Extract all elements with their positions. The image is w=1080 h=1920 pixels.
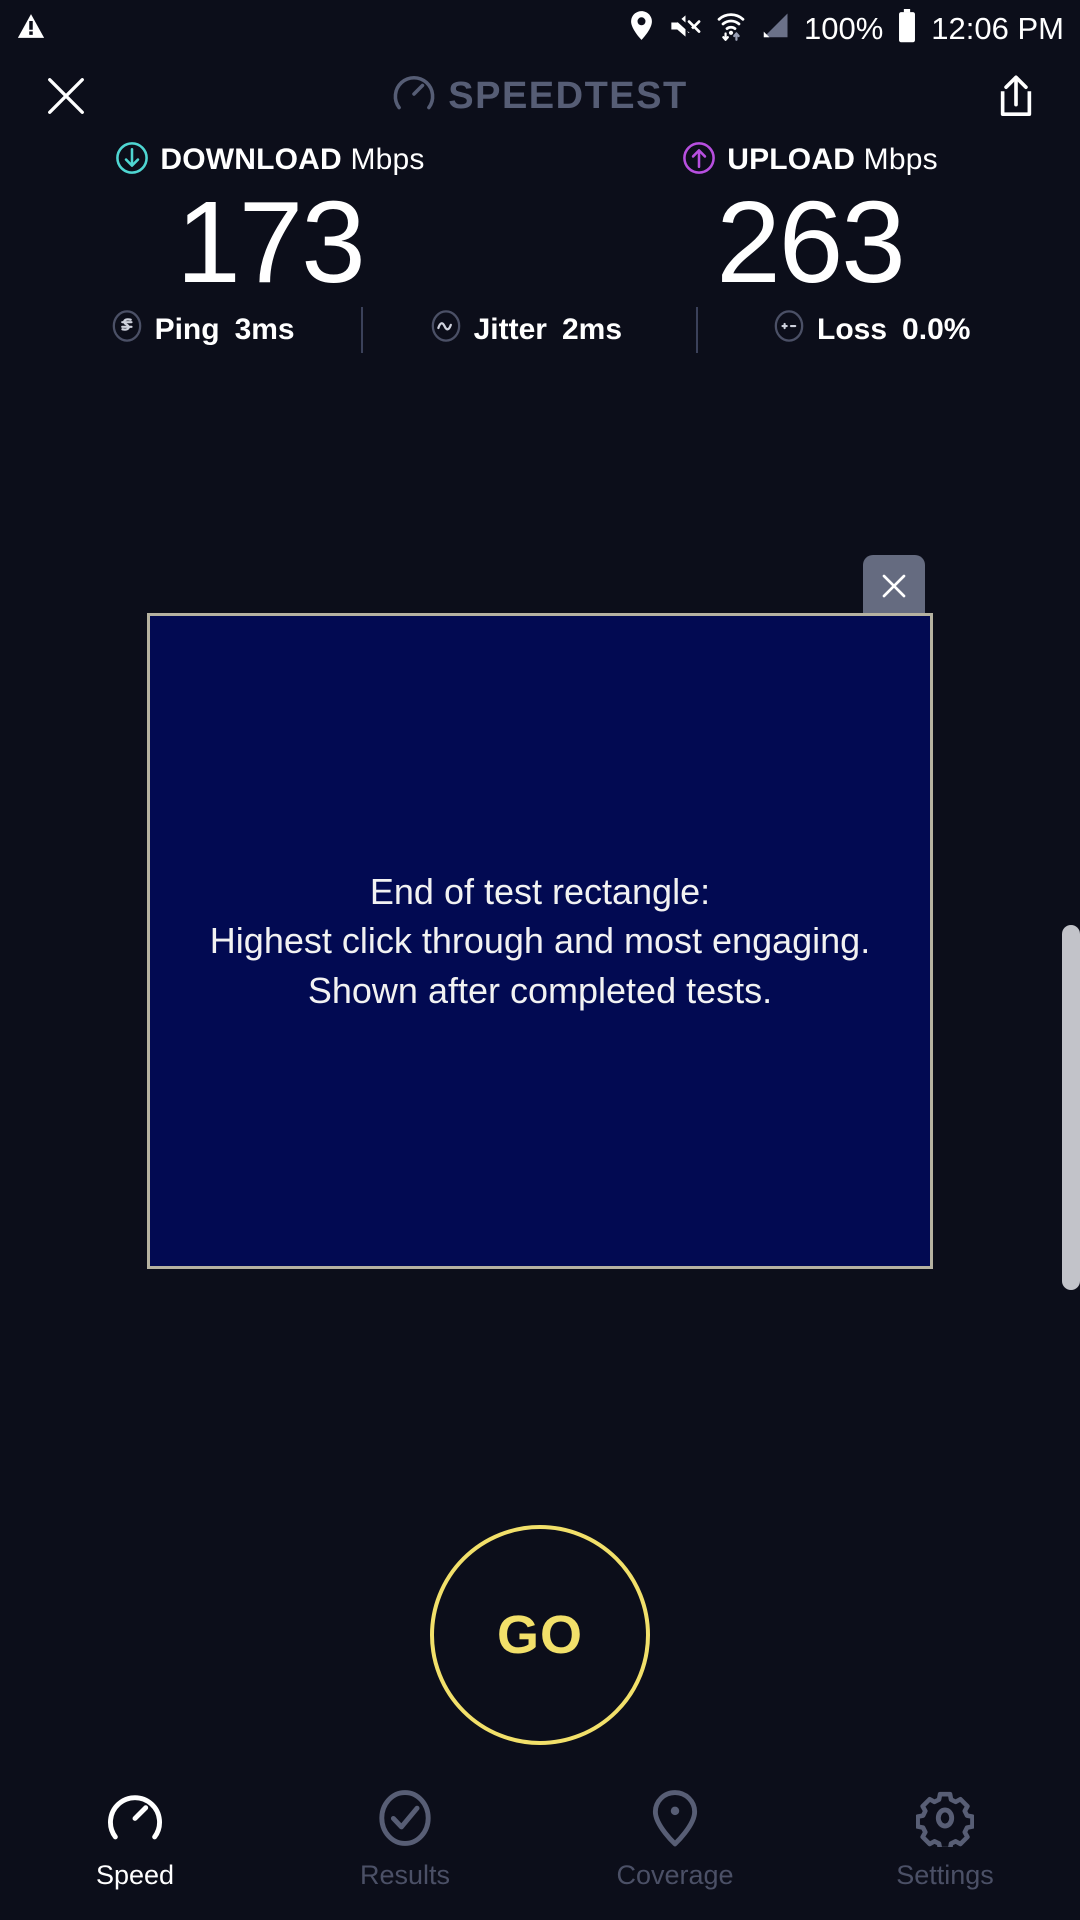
loss-label: Loss: [817, 313, 887, 347]
ad-text: End of test rectangle: Highest click thr…: [210, 867, 870, 1015]
download-value: 173: [176, 184, 364, 300]
loss-icon: [772, 309, 806, 351]
gear-icon: [916, 1782, 974, 1854]
ad-close-button[interactable]: [863, 555, 925, 617]
metric-loss: Loss 0.0%: [772, 309, 970, 351]
nav-label-results: Results: [360, 1860, 450, 1891]
download-label: DOWNLOAD Mbps: [160, 143, 424, 177]
download-arrow-icon: [115, 141, 149, 180]
advertisement: End of test rectangle: Highest click thr…: [147, 613, 933, 1269]
download-unit: Mbps: [350, 143, 424, 176]
metrics-row: Ping 3ms Jitter 2ms: [0, 300, 1080, 360]
upload-kind: UPLOAD: [727, 143, 855, 176]
share-button[interactable]: [988, 68, 1044, 124]
metric-jitter: Jitter 2ms: [429, 309, 622, 351]
bottom-nav: Speed Results Coverage: [0, 1768, 1080, 1920]
nav-item-speed[interactable]: Speed: [0, 1768, 270, 1920]
battery-full-icon: [897, 9, 917, 48]
jitter-label: Jitter: [474, 313, 547, 347]
results-row: DOWNLOAD Mbps 173 UPLOAD Mbps 263: [0, 140, 1080, 300]
upload-result: UPLOAD Mbps 263: [540, 140, 1080, 300]
nav-item-results[interactable]: Results: [270, 1768, 540, 1920]
ping-icon: [110, 309, 144, 351]
battery-percent-label: 100%: [804, 13, 883, 44]
scrollbar[interactable]: [1062, 925, 1080, 1290]
nav-item-settings[interactable]: Settings: [810, 1768, 1080, 1920]
app-header: SPEEDTEST: [0, 56, 1080, 136]
nav-label-coverage: Coverage: [616, 1860, 733, 1891]
volume-muted-icon: [669, 11, 702, 46]
download-kind: DOWNLOAD: [160, 143, 342, 176]
speedometer-icon: [392, 72, 436, 121]
loss-value: 0.0%: [902, 313, 970, 347]
ad-rectangle[interactable]: End of test rectangle: Highest click thr…: [147, 613, 933, 1269]
speedtest-app: 100% 12:06 PM SPEEDTEST: [0, 0, 1080, 1920]
upload-header: UPLOAD Mbps: [682, 140, 938, 180]
upload-value: 263: [716, 184, 904, 300]
clock-label: 12:06 PM: [931, 13, 1064, 44]
nav-label-speed: Speed: [96, 1860, 174, 1891]
upload-arrow-icon: [682, 141, 716, 180]
ping-label: Ping: [155, 313, 220, 347]
go-button[interactable]: GO: [430, 1525, 650, 1745]
results-panel: DOWNLOAD Mbps 173 UPLOAD Mbps 263: [0, 140, 1080, 300]
go-button-label: GO: [497, 1604, 583, 1666]
wifi-icon: [716, 10, 746, 46]
metrics-divider-2: [696, 307, 698, 353]
metric-ping: Ping 3ms: [110, 309, 295, 351]
status-bar-left: [16, 11, 46, 46]
metrics-divider-1: [361, 307, 363, 353]
jitter-icon: [429, 309, 463, 351]
jitter-value: 2ms: [562, 313, 622, 347]
location-pin-icon: [646, 1782, 704, 1854]
nav-label-settings: Settings: [896, 1860, 994, 1891]
check-circle-icon: [376, 1782, 434, 1854]
speedometer-icon: [106, 1782, 164, 1854]
brand-title: SPEEDTEST: [448, 75, 687, 118]
warning-triangle-icon: [16, 11, 46, 46]
share-icon: [995, 73, 1037, 119]
ping-value: 3ms: [235, 313, 295, 347]
download-result: DOWNLOAD Mbps 173: [0, 140, 540, 300]
download-header: DOWNLOAD Mbps: [115, 140, 424, 180]
upload-label: UPLOAD Mbps: [727, 143, 938, 177]
nav-item-coverage[interactable]: Coverage: [540, 1768, 810, 1920]
brand: SPEEDTEST: [0, 66, 1080, 126]
upload-unit: Mbps: [864, 143, 938, 176]
close-icon: [878, 570, 910, 602]
status-bar: 100% 12:06 PM: [0, 0, 1080, 56]
location-pin-icon: [628, 10, 655, 46]
status-bar-right: 100% 12:06 PM: [628, 9, 1064, 48]
cellular-signal-icon: [760, 11, 790, 46]
